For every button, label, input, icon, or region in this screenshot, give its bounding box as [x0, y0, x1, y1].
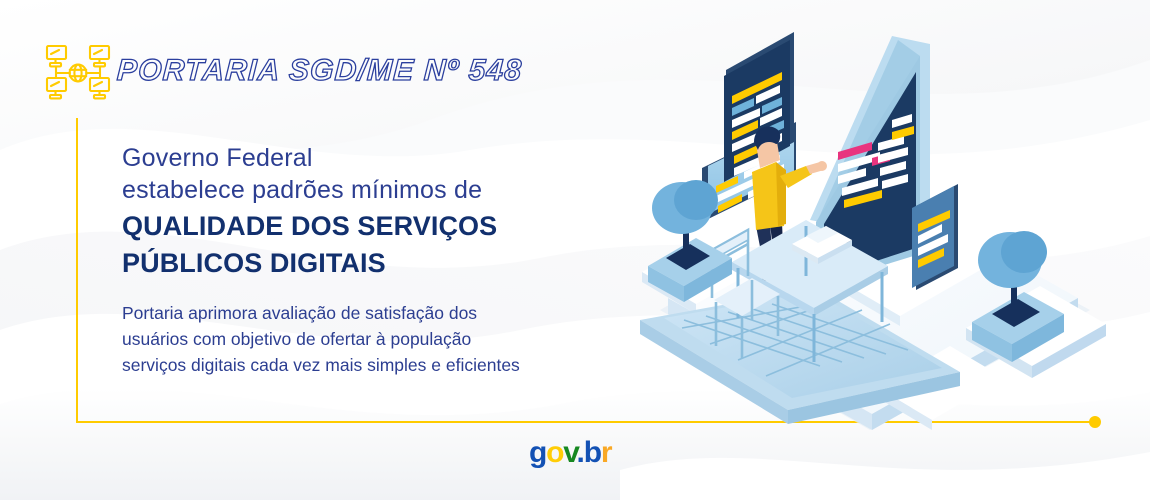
headline-bold-line-2: PÚBLICOS DIGITAIS: [122, 246, 642, 280]
kicker-title: PORTARIA SGD/ME Nº 548: [116, 54, 523, 88]
banner-root: PORTARIA SGD/ME Nº 548 Governo Federal e…: [0, 0, 1150, 500]
headline-line-2: estabelece padrões mínimos de: [122, 174, 642, 206]
headline-line-1: Governo Federal: [122, 142, 642, 174]
isometric-illustration: [620, 10, 1150, 440]
timeline-vertical-rule: [76, 118, 78, 423]
govbr-letter-o: o: [546, 436, 563, 469]
headline-block: Governo Federal estabelece padrões mínim…: [122, 142, 642, 280]
govbr-letter-r: r: [601, 436, 611, 469]
govbr-logo: gov.br: [529, 438, 611, 468]
govbr-dot: .: [577, 436, 584, 469]
govbr-letter-g: g: [529, 436, 546, 469]
govbr-letter-b: b: [584, 436, 601, 469]
lede-line-3: serviços digitais cada vez mais simples …: [122, 352, 642, 378]
lede-line-1: Portaria aprimora avaliação de satisfaçã…: [122, 300, 642, 326]
govbr-letter-v: v: [563, 436, 576, 469]
headline-bold-line-1: QUALIDADE DOS SERVIÇOS: [122, 209, 642, 243]
lede-line-2: usuários com objetivo de ofertar à popul…: [122, 326, 642, 352]
network-monitors-globe-icon: [44, 44, 112, 114]
lede-paragraph: Portaria aprimora avaliação de satisfaçã…: [122, 300, 642, 378]
